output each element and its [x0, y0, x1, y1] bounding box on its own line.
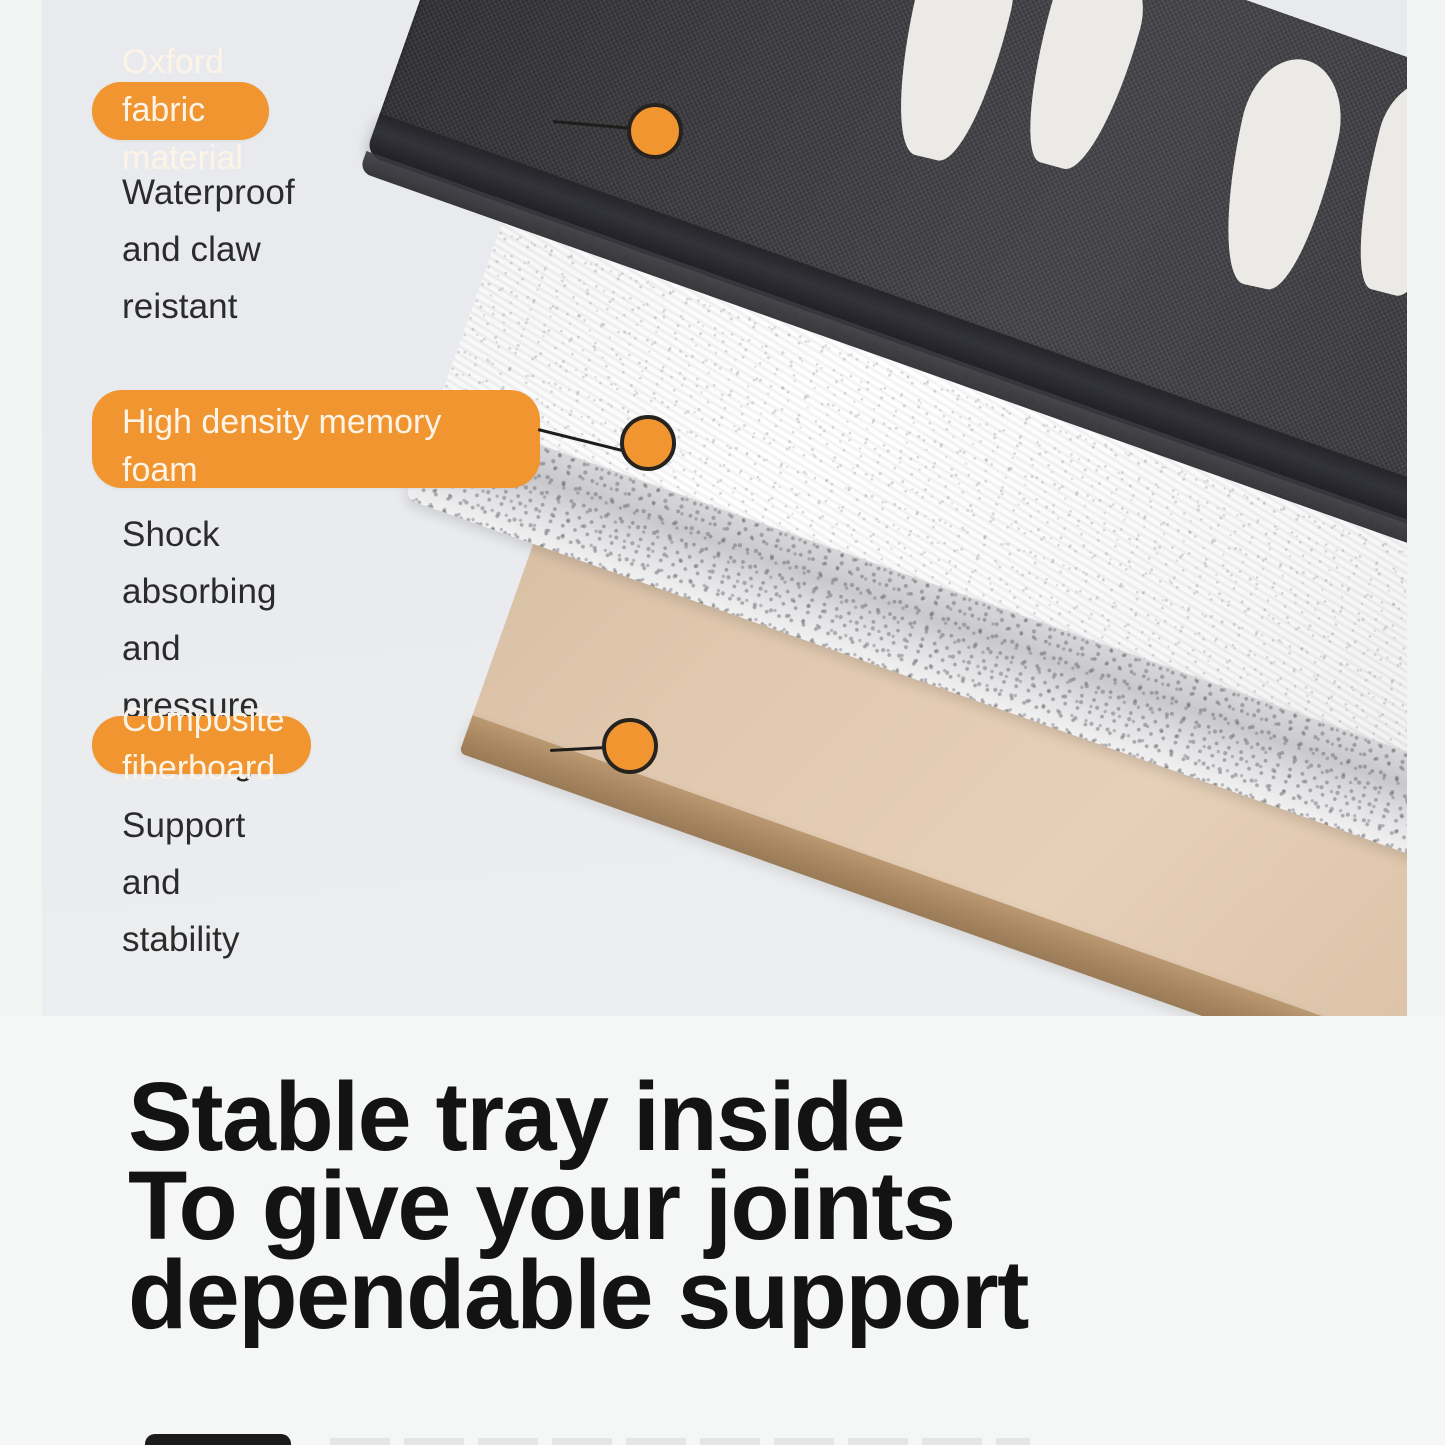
footer-chip-cutoff	[145, 1434, 291, 1445]
product-layers-panel: Oxford fabric material Waterproof and cl…	[42, 0, 1407, 1016]
callout-dot-composite-fiberboard	[602, 718, 658, 774]
page-headline: Stable tray inside To give your joints d…	[128, 1072, 1028, 1339]
footer-text-cutoff	[330, 1438, 1030, 1445]
paw-print-icon	[1010, 0, 1156, 179]
paw-print-icon	[880, 0, 1027, 169]
paw-print-icon	[1207, 50, 1353, 298]
right-margin-strip	[1407, 0, 1445, 1016]
callout-dot-memory-foam	[620, 415, 676, 471]
product-infographic-page: Oxford fabric material Waterproof and cl…	[0, 0, 1445, 1445]
callout-pill-memory-foam: High density memory foam	[92, 390, 540, 488]
left-margin-strip	[0, 0, 42, 1016]
paw-print-icon	[1341, 70, 1407, 305]
callout-dot-oxford-fabric	[627, 103, 683, 159]
callout-description-oxford-fabric: Waterproof and claw reistant	[122, 164, 295, 335]
callout-pill-composite-fiberboard: Composite fiberboard	[92, 716, 311, 774]
callout-description-composite-fiberboard: Support and stability	[122, 797, 245, 968]
callout-pill-oxford-fabric: Oxford fabric material	[92, 82, 269, 140]
